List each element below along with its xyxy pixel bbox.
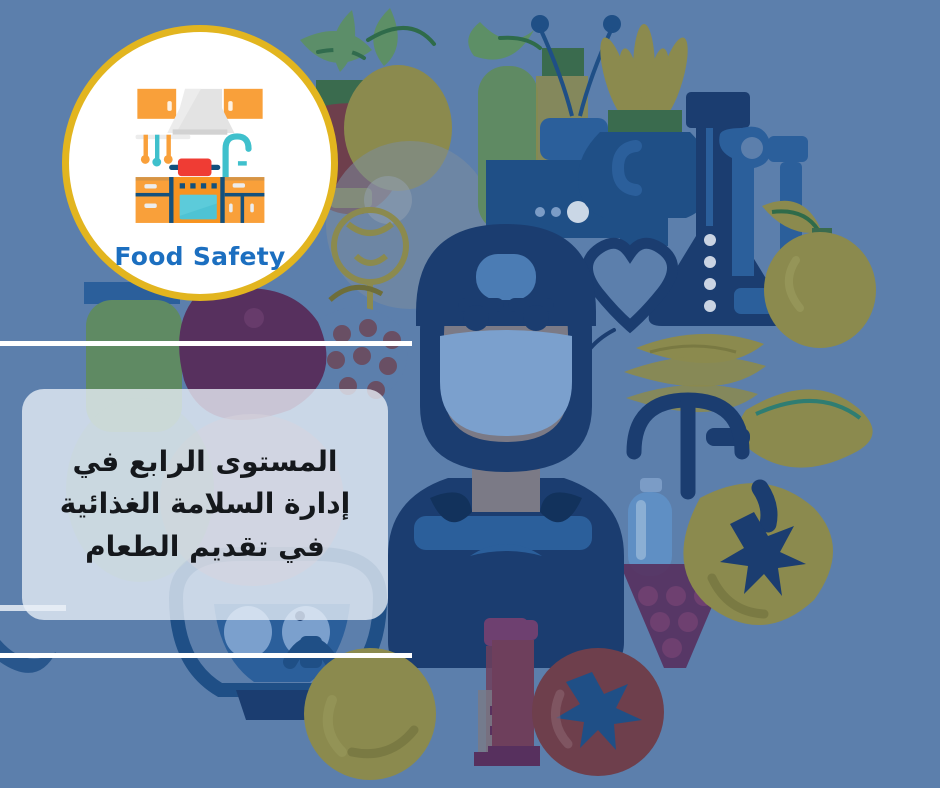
food-safety-banner: Food Safety المستوى الرابع في إدارة السل…	[0, 0, 940, 788]
bottom-divider-rule	[0, 653, 412, 658]
title-line-3: في تقديم الطعام	[85, 526, 325, 569]
top-divider-rule	[0, 341, 412, 346]
title-line-1: المستوى الرابع في	[73, 441, 338, 484]
food-safety-logo-badge: Food Safety	[62, 25, 338, 301]
title-line-2: إدارة السلامة الغذائية	[60, 483, 351, 526]
course-title-panel: المستوى الرابع في إدارة السلامة الغذائية…	[22, 389, 388, 620]
kitchen-icon	[125, 80, 275, 230]
logo-caption: Food Safety	[114, 242, 285, 271]
tomato-icon	[532, 648, 664, 776]
